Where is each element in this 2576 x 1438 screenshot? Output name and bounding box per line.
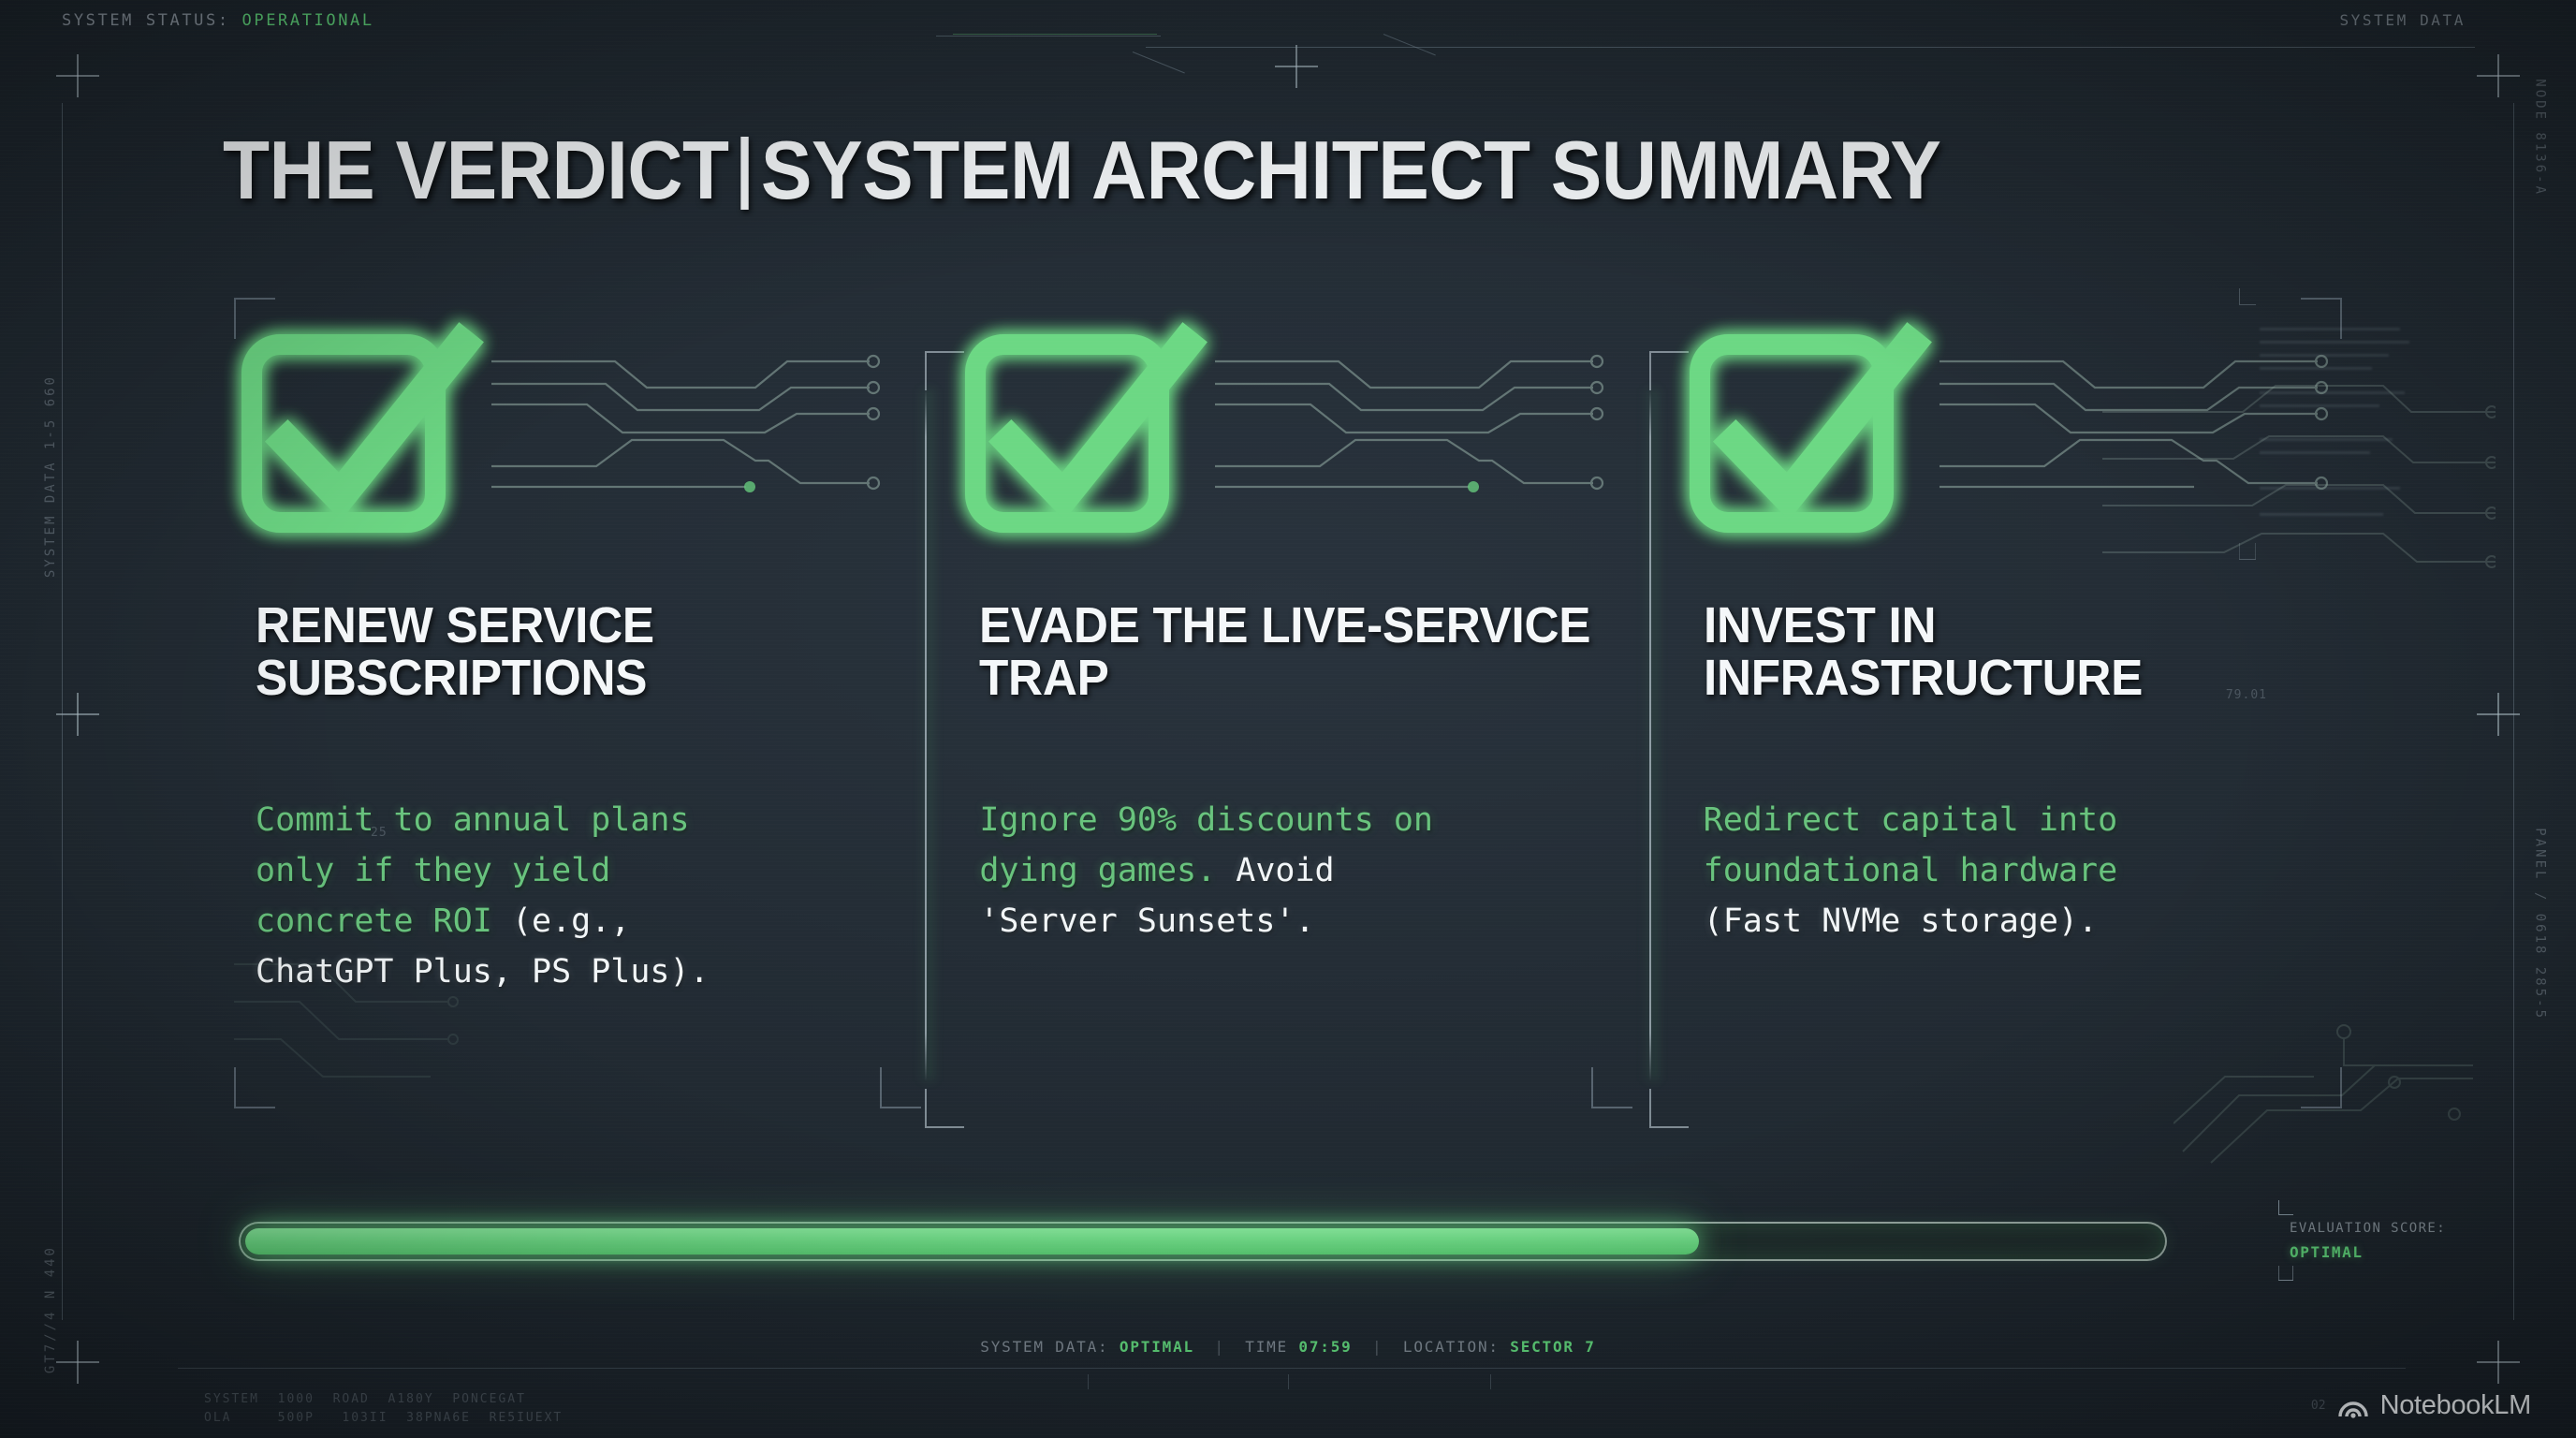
column-heading-3: INVEST IN INFRASTRUCTURE	[1704, 599, 2362, 704]
evaluation-score-box: EVALUATION SCORE: OPTIMAL	[2278, 1200, 2466, 1281]
corner-cross-bottom-left	[56, 1341, 99, 1384]
edge-cross-top-center	[1275, 45, 1318, 88]
checkmark-box-icon-2	[962, 328, 1206, 538]
footer-microtext: SYSTEM 1000 ROAD A180Y PONCEGAT OLA 500P…	[204, 1390, 563, 1427]
right-rail-text-top: NODE 8136-A	[2533, 79, 2548, 197]
column-heading-2: EVADE THE LIVE-SERVICE TRAP	[979, 599, 1637, 704]
corner-cross-top-right	[2477, 54, 2520, 97]
footer-status-readout: SYSTEM DATA: OPTIMAL | TIME 07:59 | LOCA…	[980, 1338, 1595, 1356]
system-data-label-top: SYSTEM DATA	[2339, 11, 2466, 29]
system-status-label: SYSTEM STATUS:	[62, 11, 230, 30]
right-rail	[2513, 103, 2514, 1320]
evaluation-score-label: EVALUATION SCORE:	[2290, 1221, 2446, 1236]
footer-tick-1	[1088, 1374, 1089, 1389]
footer-data-value: OPTIMAL	[1120, 1338, 1194, 1356]
brand-code: 02	[2311, 1399, 2326, 1413]
brand-name: NotebookLM	[2380, 1390, 2531, 1421]
footer-separator-1: |	[1214, 1338, 1224, 1356]
column-divider-2	[1623, 351, 1679, 1128]
verdict-column-1: RENEW SERVICE SUBSCRIPTIONS Commit to an…	[229, 328, 934, 1123]
footer-tick-2	[1288, 1374, 1289, 1389]
footer-data-label: SYSTEM DATA:	[980, 1338, 1108, 1356]
circuit-trace-3	[1939, 346, 2333, 506]
verdict-column-3: INVEST IN INFRASTRUCTURE Redirect capita…	[1677, 328, 2382, 1123]
circuit-trace-1	[491, 346, 885, 506]
notebooklm-logo-icon	[2337, 1392, 2369, 1420]
corner-cross-bottom-right	[2477, 1341, 2520, 1384]
title-divider-bar	[741, 137, 749, 210]
system-status-readout: SYSTEM STATUS: OPERATIONAL	[62, 11, 374, 30]
column-body-3-green: Redirect capital into foundational hardw…	[1704, 801, 2118, 889]
footer-tick-3	[1490, 1374, 1491, 1389]
column-heading-1: RENEW SERVICE SUBSCRIPTIONS	[256, 599, 914, 704]
footer-time-label: TIME	[1245, 1338, 1288, 1356]
column-body-1: Commit to annual plans only if they yiel…	[256, 796, 967, 998]
footer-separator-2: |	[1372, 1338, 1383, 1356]
header-rule-right	[1146, 47, 2475, 48]
evaluation-progress-bar[interactable]	[239, 1222, 2167, 1261]
circuit-trace-2	[1215, 346, 1608, 506]
header-rule-left	[936, 36, 1161, 37]
column-body-3-highlight: (Fast NVMe storage).	[1704, 902, 2098, 940]
footer-time-value: 07:59	[1298, 1338, 1352, 1356]
left-rail-text-top: SYSTEM DATA 1-5 660	[43, 374, 58, 578]
column-body-2: Ignore 90% discounts on dying games. Avo…	[979, 796, 1690, 947]
progress-bar-fill	[245, 1228, 1699, 1255]
verdict-column-2: EVADE THE LIVE-SERVICE TRAP Ignore 90% d…	[953, 328, 1658, 1123]
column-divider-1	[899, 351, 955, 1128]
left-rail	[62, 103, 63, 1320]
status-underline	[953, 34, 1157, 35]
title-part-two: SYSTEM ARCHITECT SUMMARY	[761, 124, 1940, 216]
system-status-value: OPERATIONAL	[242, 11, 374, 30]
evaluation-score-value: OPTIMAL	[2290, 1243, 2364, 1261]
right-rail-text-bottom: PANEL / 0618 285-5	[2533, 828, 2548, 1020]
slide-canvas: SYSTEM STATUS: OPERATIONAL SYSTEM DATA S…	[0, 0, 2576, 1438]
header-diagonal-right	[1383, 34, 1436, 55]
footer-location-value: SECTOR 7	[1510, 1338, 1595, 1356]
column-body-2-green: Ignore 90% discounts on dying games.	[979, 801, 1433, 889]
title-part-one: THE VERDICT	[223, 124, 729, 216]
left-rail-text-bottom: GT7//4 N 440	[43, 1245, 58, 1373]
checkmark-box-icon-3	[1687, 328, 1930, 538]
header-diagonal-left	[1133, 51, 1185, 73]
notebooklm-brand: 02 NotebookLM	[2311, 1390, 2531, 1421]
page-title: THE VERDICTSYSTEM ARCHITECT SUMMARY	[223, 129, 1940, 212]
verdict-columns: RENEW SERVICE SUBSCRIPTIONS Commit to an…	[229, 328, 2382, 1123]
footer-rule	[178, 1368, 2406, 1369]
column-body-3: Redirect capital into foundational hardw…	[1704, 796, 2415, 947]
checkmark-box-icon-1	[239, 328, 482, 538]
corner-cross-top-left	[56, 54, 99, 97]
footer-location-label: LOCATION:	[1403, 1338, 1500, 1356]
